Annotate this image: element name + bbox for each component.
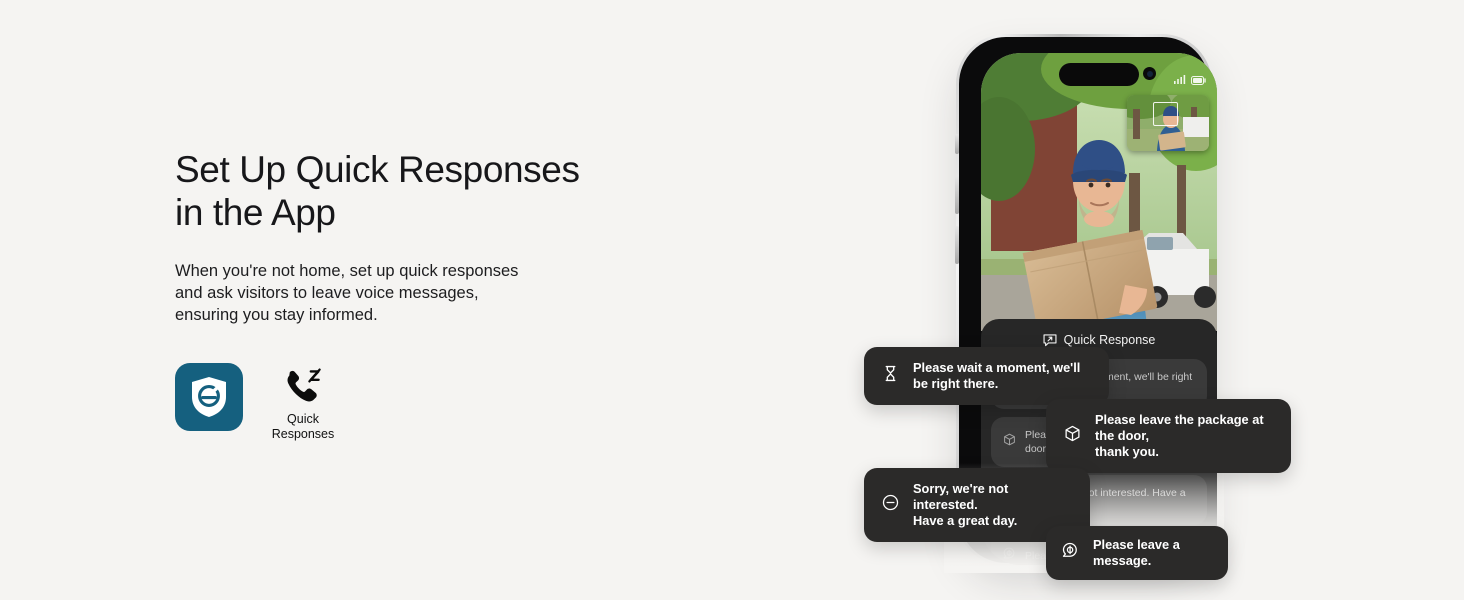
callout-quick-response-leave-message[interactable]: Please leave a message. xyxy=(1046,526,1228,580)
callout-quick-response-package[interactable]: Please leave the package at the door, th… xyxy=(1046,399,1291,473)
hourglass-icon xyxy=(882,365,899,387)
dynamic-island xyxy=(1059,63,1139,86)
phone-snooze-icon xyxy=(283,367,323,407)
status-bar-icons xyxy=(1173,75,1207,85)
callout-text: Please wait a moment, we'll be right the… xyxy=(913,360,1080,392)
package-icon xyxy=(1064,425,1081,447)
app-icon[interactable] xyxy=(175,363,243,431)
copy-block: Set Up Quick Responses in the App When y… xyxy=(175,148,645,326)
circle-minus-icon xyxy=(882,494,899,516)
page-description: When you're not home, set up quick respo… xyxy=(175,260,645,326)
feature-badge-label: Quick Responses xyxy=(272,412,335,442)
callout-text: Please leave the package at the door, th… xyxy=(1095,412,1273,460)
front-camera-icon xyxy=(1143,67,1156,80)
callout-text: Sorry, we're not interested. Have a grea… xyxy=(913,481,1072,529)
voice-message-icon xyxy=(1003,547,1016,565)
speech-bubble-arrow-icon xyxy=(1043,333,1057,347)
page-title: Set Up Quick Responses in the App xyxy=(175,148,645,234)
package-icon xyxy=(1003,433,1016,451)
shield-e-logo-icon xyxy=(190,376,228,418)
feature-promo-stage: Set Up Quick Responses in the App When y… xyxy=(0,0,1464,600)
picture-in-picture-preview[interactable] xyxy=(1127,95,1209,151)
face-detection-box xyxy=(1153,102,1178,126)
badge-row: Quick Responses xyxy=(175,363,341,442)
callout-quick-response-wait[interactable]: Please wait a moment, we'll be right the… xyxy=(864,347,1109,405)
feature-badge-quick-responses[interactable]: Quick Responses xyxy=(265,363,341,442)
voice-message-icon xyxy=(1062,542,1079,564)
callout-text: Please leave a message. xyxy=(1093,537,1212,569)
quick-response-title: Quick Response xyxy=(1064,333,1156,347)
